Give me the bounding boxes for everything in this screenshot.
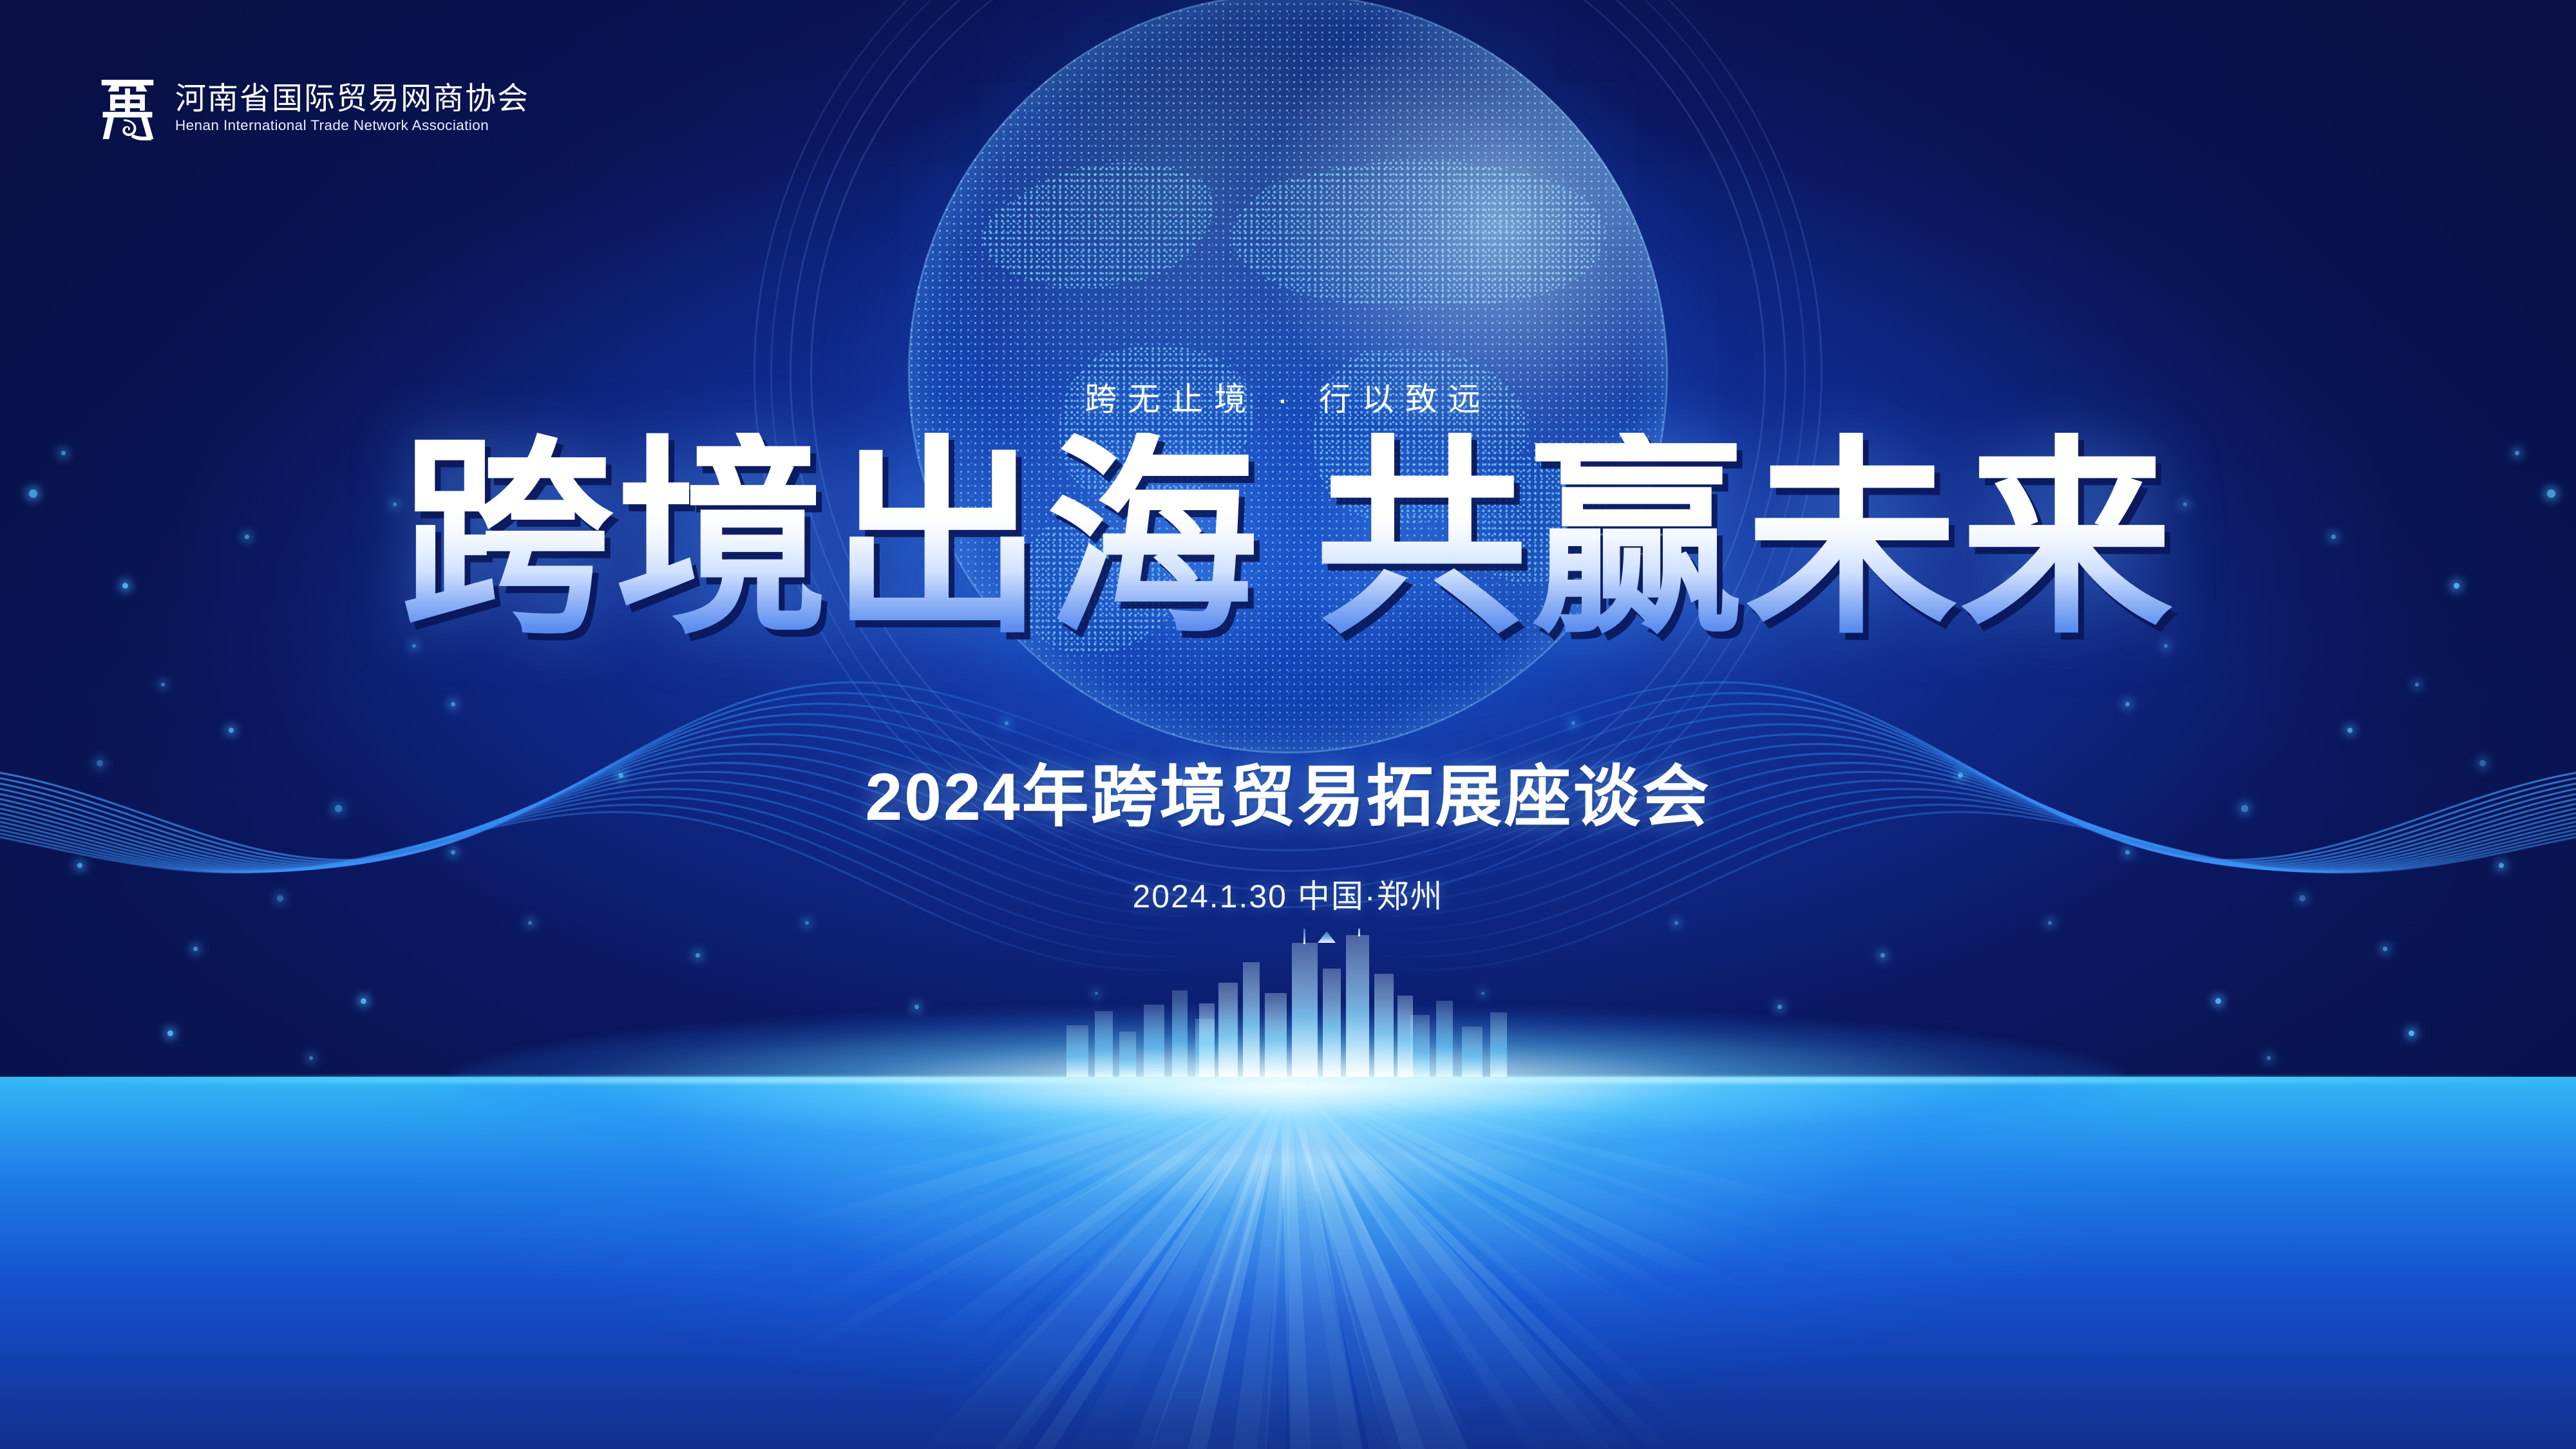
horizon-line: [0, 1077, 2576, 1083]
particle-dot: [229, 728, 234, 733]
organization-logo[interactable]: 河南省国际贸易网商协会 Henan International Trade Ne…: [97, 76, 529, 140]
particle-dot: [914, 1005, 919, 1009]
particle-dot: [528, 921, 532, 925]
particle-dot: [2215, 998, 2221, 1004]
org-name-cn: 河南省国际贸易网商协会: [175, 84, 529, 115]
particle-dot: [77, 863, 82, 868]
particle-dot: [2347, 728, 2353, 733]
particle-dot: [1005, 721, 1009, 725]
event-tagline: 跨无止境 · 行以致远: [0, 374, 2576, 420]
particle-dot: [161, 683, 165, 687]
particle-dot: [1571, 721, 1575, 725]
particle-dot: [2125, 702, 2130, 706]
particle-dot: [167, 1030, 173, 1036]
particle-dot: [2415, 683, 2419, 687]
event-title-part-1: 跨境出海: [401, 433, 1261, 645]
event-dateline: 2024.1.30 中国·郑州: [0, 871, 2576, 917]
seal-script-emblem-icon: [97, 76, 158, 140]
event-subtitle: 2024年跨境贸易拓展座谈会: [0, 742, 2576, 839]
particle-dot: [2499, 863, 2504, 868]
city-buildings-front: [1199, 929, 1413, 1077]
city-skyline-icon: [1050, 929, 1526, 1077]
particle-dot: [2125, 850, 2130, 855]
particle-dot: [2409, 1030, 2414, 1036]
particle-dot: [1674, 921, 1678, 925]
event-title: 跨境出海共赢未来: [0, 433, 2576, 645]
particle-dot: [1880, 953, 1885, 958]
event-title-part-2: 共赢未来: [1315, 433, 2175, 645]
particle-dot: [2267, 1056, 2271, 1060]
particle-dot: [451, 702, 455, 706]
particle-dot: [805, 921, 809, 925]
particle-dot: [361, 998, 366, 1004]
org-name-en: Henan International Trade Network Associ…: [175, 118, 529, 133]
particle-dot: [1777, 1005, 1782, 1009]
banner-canvas: 河南省国际贸易网商协会 Henan International Trade Ne…: [0, 0, 2576, 1449]
logo-text-block: 河南省国际贸易网商协会 Henan International Trade Ne…: [175, 84, 529, 133]
particle-dot: [2048, 921, 2052, 925]
particle-dot: [2383, 947, 2387, 951]
particle-dot: [309, 1056, 313, 1060]
particle-dot: [451, 850, 455, 855]
particle-dot: [193, 947, 198, 951]
particle-dot: [696, 953, 700, 958]
